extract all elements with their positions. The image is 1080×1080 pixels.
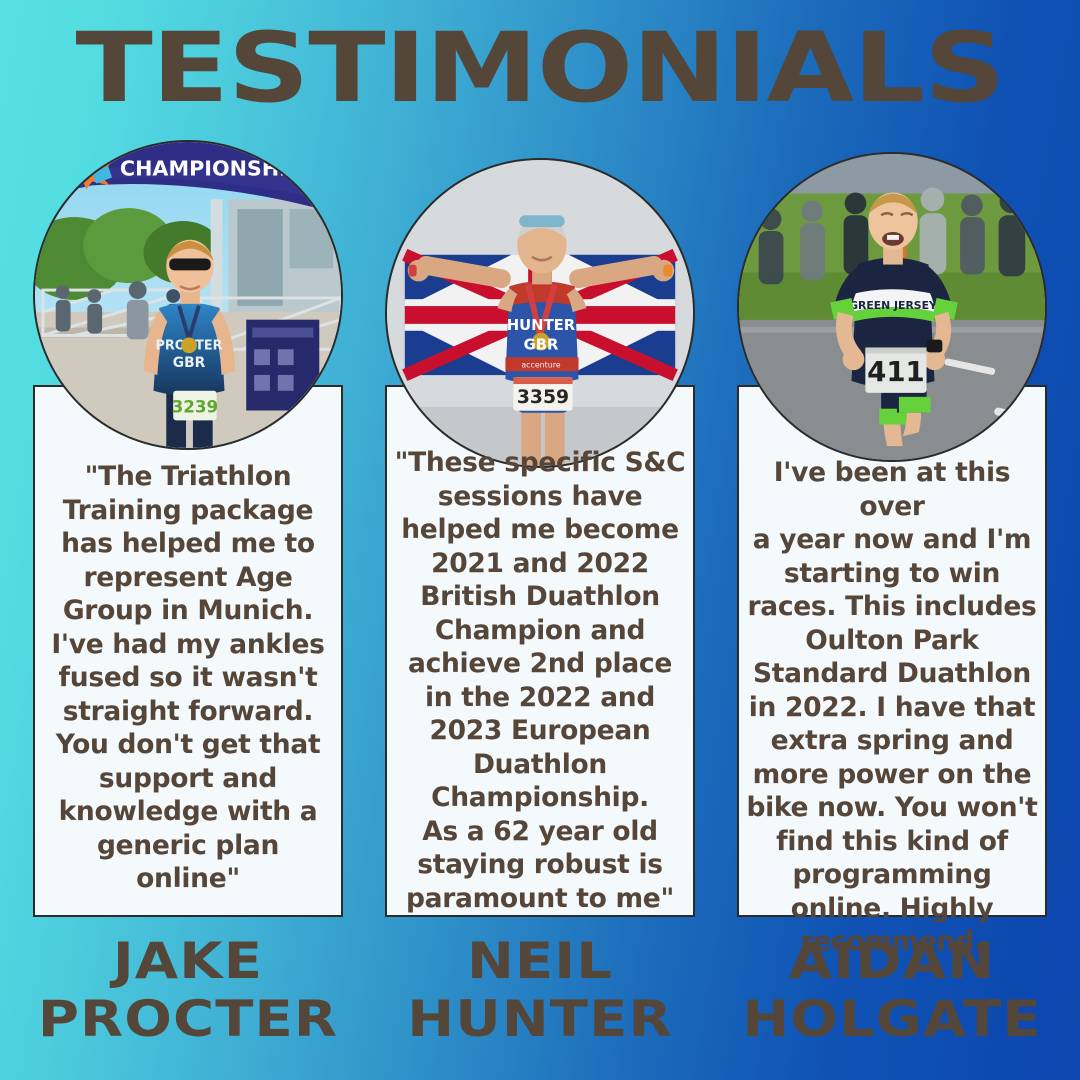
testimonial-card-aidan-holgate: GREEN JERSEY bbox=[737, 140, 1047, 930]
svg-text:3359: 3359 bbox=[517, 387, 569, 408]
svg-text:CHAMPIONSHIPS MUN: CHAMPIONSHIPS MUN bbox=[120, 157, 341, 181]
athlete-photo-aidan-holgate: GREEN JERSEY bbox=[737, 152, 1047, 462]
svg-text:GREEN JERSEY: GREEN JERSEY bbox=[849, 299, 937, 312]
svg-text:GBR: GBR bbox=[524, 337, 559, 354]
svg-text:411: 411 bbox=[867, 355, 925, 388]
testimonial-quote: "These specific S&C sessions have helped… bbox=[393, 446, 687, 915]
athlete-name-jake-procter: JAKE PROCTER bbox=[3, 932, 373, 1048]
testimonial-quote: I've been at this over a year now and I'… bbox=[745, 456, 1039, 959]
athlete-photo-jake-procter: CHAMPIONSHIPS MUN bbox=[33, 140, 343, 450]
testimonials-poster: TESTIMONIALS bbox=[0, 0, 1080, 1080]
testimonial-cards-row: CHAMPIONSHIPS MUN bbox=[0, 140, 1080, 930]
athlete-name-aidan-holgate: AIDAN HOLGATE bbox=[707, 932, 1077, 1048]
svg-text:HUNTER: HUNTER bbox=[507, 317, 576, 334]
photo-illustration-icon: CHAMPIONSHIPS MUN bbox=[35, 142, 341, 448]
athlete-name-neil-hunter: NEIL HUNTER bbox=[355, 932, 725, 1048]
testimonial-quote: "The Triathlon Training package has help… bbox=[41, 460, 335, 896]
svg-text:GBR: GBR bbox=[173, 355, 206, 371]
testimonial-card-jake-procter: CHAMPIONSHIPS MUN bbox=[33, 140, 343, 930]
photo-illustration-icon: GREEN JERSEY bbox=[739, 154, 1045, 460]
testimonial-card-neil-hunter: HUNTER GBR accenture 3359 "These specifi… bbox=[385, 140, 695, 930]
page-title: TESTIMONIALS bbox=[0, 18, 1080, 118]
athlete-names-row: JAKE PROCTER NEIL HUNTER AIDAN HOLGATE bbox=[0, 932, 1080, 1062]
svg-text:3239: 3239 bbox=[172, 396, 219, 416]
athlete-photo-neil-hunter: HUNTER GBR accenture 3359 bbox=[385, 158, 695, 468]
svg-text:accenture: accenture bbox=[521, 360, 560, 369]
photo-illustration-icon: HUNTER GBR accenture 3359 bbox=[387, 160, 693, 466]
